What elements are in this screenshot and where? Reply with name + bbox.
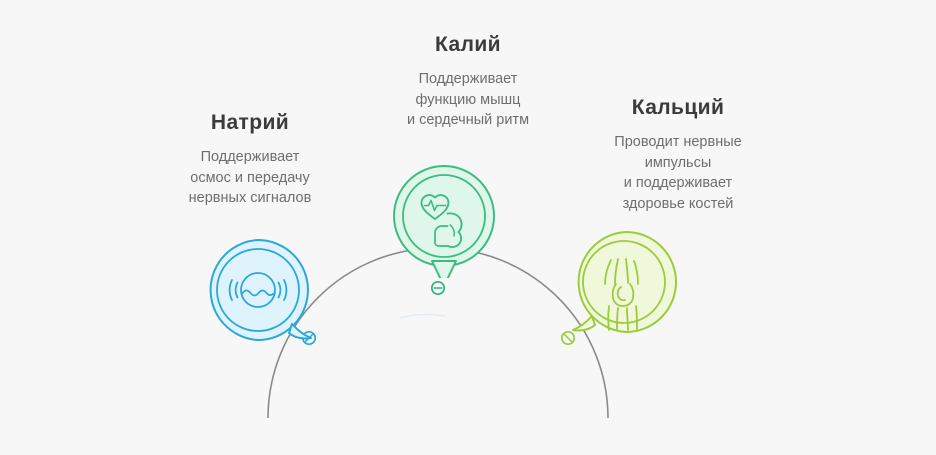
bubble-tail-sodium — [289, 324, 311, 338]
badge-calcium[interactable] — [564, 228, 680, 344]
heading-calcium: Кальций — [570, 97, 786, 118]
heading-sodium: Натрий — [142, 112, 358, 133]
bubble-shape-potassium — [394, 166, 494, 266]
text-block-sodium: Натрий Поддерживает осмос и передачу нер… — [142, 112, 358, 209]
body-calcium: Проводит нервные импульсы и поддерживает… — [570, 132, 786, 214]
bubble-tail-calcium — [573, 316, 595, 330]
body-potassium: Поддерживает функцию мышц и сердечный ри… — [360, 69, 576, 131]
bubble-tail-potassium — [432, 261, 456, 278]
badge-potassium[interactable] — [388, 162, 504, 278]
arc-node-potassium — [432, 282, 444, 294]
heading-potassium: Калий — [360, 34, 576, 55]
badge-sodium[interactable] — [204, 236, 320, 352]
infographic-canvas: Натрий Поддерживает осмос и передачу нер… — [0, 0, 936, 455]
arc-highlight — [400, 314, 444, 318]
body-sodium: Поддерживает осмос и передачу нервных си… — [142, 147, 358, 209]
text-block-potassium: Калий Поддерживает функцию мышц и сердеч… — [360, 34, 576, 131]
text-block-calcium: Кальций Проводит нервные импульсы и подд… — [570, 97, 786, 214]
